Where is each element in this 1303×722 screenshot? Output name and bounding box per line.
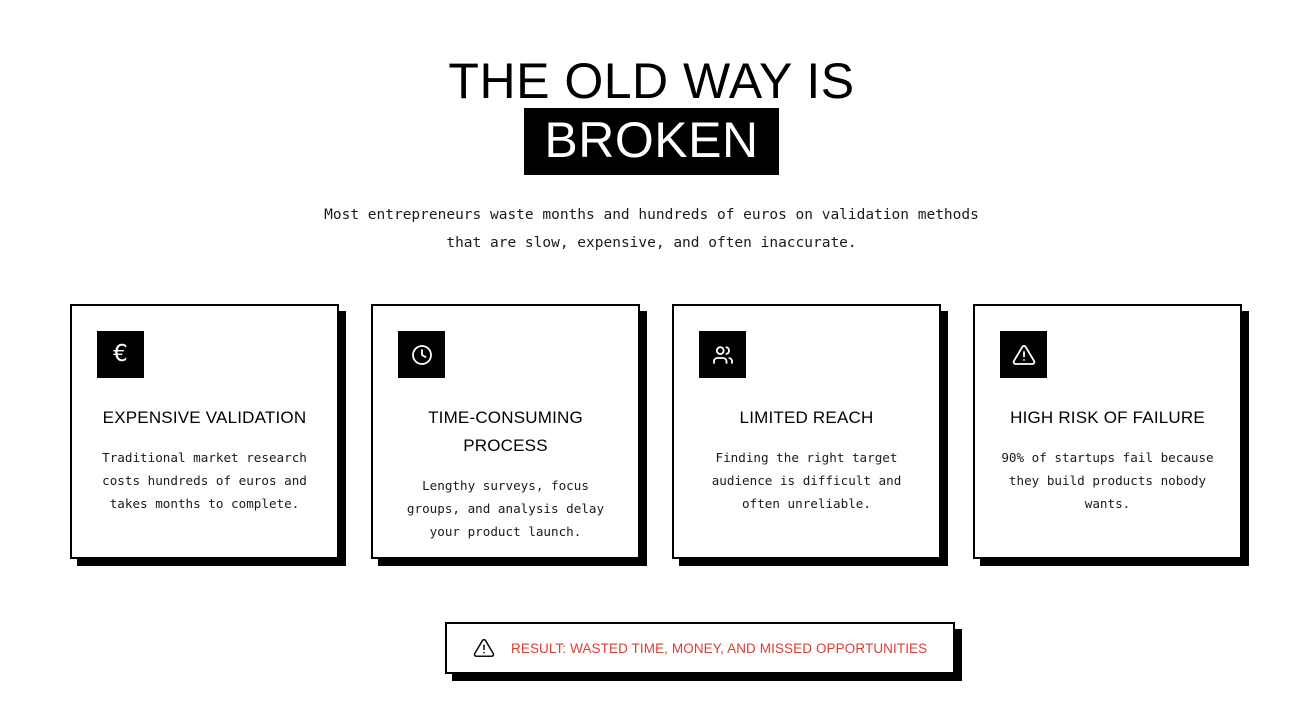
hero-section: THE OLD WAY IS BROKEN Most entrepreneurs… — [0, 0, 1303, 257]
page-title-line-2: BROKEN — [0, 108, 1303, 175]
euro-icon: € — [97, 331, 144, 378]
card-body: Finding the right target audience is dif… — [699, 446, 921, 515]
euro-glyph: € — [113, 343, 128, 366]
card-body: 90% of startups fail because they build … — [1000, 446, 1222, 515]
card-title: EXPENSIVE VALIDATION — [97, 404, 319, 432]
page-title: THE OLD WAY IS BROKEN — [0, 56, 1303, 175]
card-title: HIGH RISK OF FAILURE — [1000, 404, 1222, 432]
card-title: LIMITED REACH — [699, 404, 921, 432]
alert-triangle-icon — [1000, 331, 1047, 378]
card-body: Lengthy surveys, focus groups, and analy… — [398, 474, 620, 543]
problem-cards-row: € EXPENSIVE VALIDATION Traditional marke… — [70, 304, 1245, 559]
card-title: TIME-CONSUMING PROCESS — [398, 404, 620, 460]
card-expensive-validation[interactable]: € EXPENSIVE VALIDATION Traditional marke… — [70, 304, 339, 559]
alert-triangle-icon — [473, 637, 495, 659]
users-icon — [699, 331, 746, 378]
clock-icon — [398, 331, 445, 378]
page-title-highlight: BROKEN — [524, 108, 778, 175]
result-banner[interactable]: RESULT: WASTED TIME, MONEY, AND MISSED O… — [445, 622, 955, 674]
page-title-line-1: THE OLD WAY IS — [0, 56, 1303, 106]
card-high-risk-of-failure[interactable]: HIGH RISK OF FAILURE 90% of startups fai… — [973, 304, 1242, 559]
card-limited-reach[interactable]: LIMITED REACH Finding the right target a… — [672, 304, 941, 559]
page-subtitle-line-1: Most entrepreneurs waste months and hund… — [262, 201, 1042, 229]
result-banner-text: RESULT: WASTED TIME, MONEY, AND MISSED O… — [511, 641, 927, 656]
page-subtitle: Most entrepreneurs waste months and hund… — [262, 201, 1042, 257]
card-body: Traditional market research costs hundre… — [97, 446, 319, 515]
result-banner-wrapper: RESULT: WASTED TIME, MONEY, AND MISSED O… — [445, 622, 955, 674]
card-time-consuming-process[interactable]: TIME-CONSUMING PROCESS Lengthy surveys, … — [371, 304, 640, 559]
page-subtitle-line-2: that are slow, expensive, and often inac… — [262, 229, 1042, 257]
